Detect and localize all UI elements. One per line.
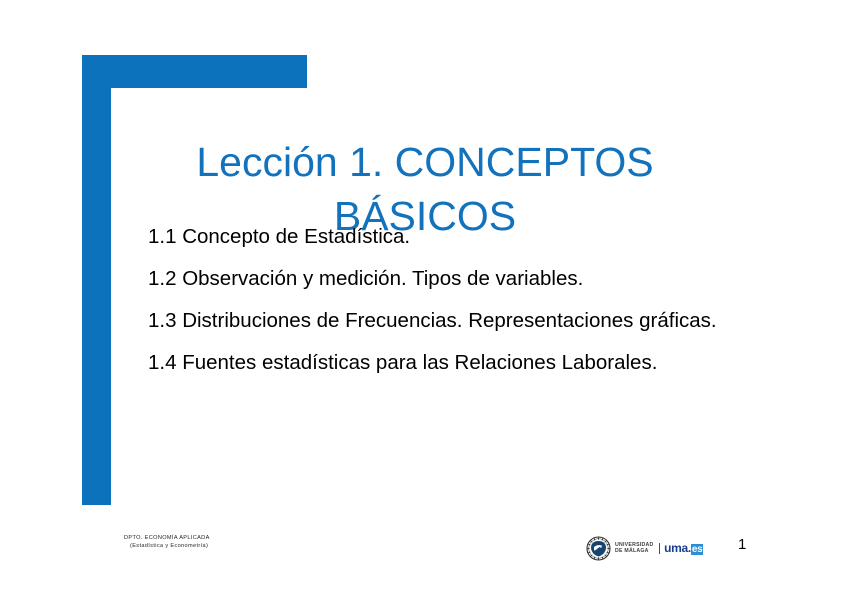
contents-item-1: 1.1 Concepto de Estadística. bbox=[148, 222, 738, 251]
contents-item-1-number: 1.1 bbox=[148, 225, 177, 248]
decorative-bracket-vertical bbox=[82, 55, 111, 505]
contents-item-4: 1.4 Fuentes estadísticas para las Relaci… bbox=[148, 348, 738, 377]
university-name-line-2: DE MÁLAGA bbox=[615, 548, 654, 554]
contents-item-2: 1.2 Observación y medición. Tipos de var… bbox=[148, 264, 738, 293]
page-number: 1 bbox=[738, 536, 746, 554]
uma-es-wordmark: uma . es bbox=[664, 542, 703, 555]
slide-canvas: Lección 1. CONCEPTOS BÁSICOS 1.1 Concept… bbox=[0, 0, 848, 599]
contents-list: 1.1 Concepto de Estadística. 1.2 Observa… bbox=[148, 222, 738, 377]
contents-item-2-text: Observación y medición. Tipos de variabl… bbox=[182, 267, 583, 290]
contents-item-4-text: Fuentes estadísticas para las Relaciones… bbox=[182, 351, 657, 374]
uma-wordmark-name: uma bbox=[664, 542, 688, 554]
contents-item-2-number: 1.2 bbox=[148, 267, 177, 290]
footer-department: DPTO. ECONOMÍA APLICADA (Estadística y E… bbox=[124, 534, 210, 550]
contents-item-3: 1.3 Distribuciones de Frecuencias. Repre… bbox=[148, 306, 738, 335]
decorative-bracket-horizontal bbox=[82, 55, 307, 88]
contents-item-3-text: Distribuciones de Frecuencias. Represent… bbox=[182, 309, 716, 332]
footer-department-line-2: (Estadística y Econometría) bbox=[124, 542, 210, 550]
uma-wordmark-tld: es bbox=[691, 544, 704, 555]
contents-item-4-number: 1.4 bbox=[148, 351, 177, 374]
university-name: UNIVERSIDAD DE MÁLAGA bbox=[615, 542, 654, 555]
contents-item-1-text: Concepto de Estadística. bbox=[182, 225, 410, 248]
contents-item-3-number: 1.3 bbox=[148, 309, 177, 332]
footer-department-line-1: DPTO. ECONOMÍA APLICADA bbox=[124, 534, 210, 542]
university-logo: UNIVERSIDAD DE MÁLAGA uma . es bbox=[586, 535, 703, 561]
university-crest-icon bbox=[586, 536, 611, 561]
slide-title-line-1: Lección 1. CONCEPTOS bbox=[120, 135, 730, 189]
logo-divider bbox=[659, 543, 661, 554]
